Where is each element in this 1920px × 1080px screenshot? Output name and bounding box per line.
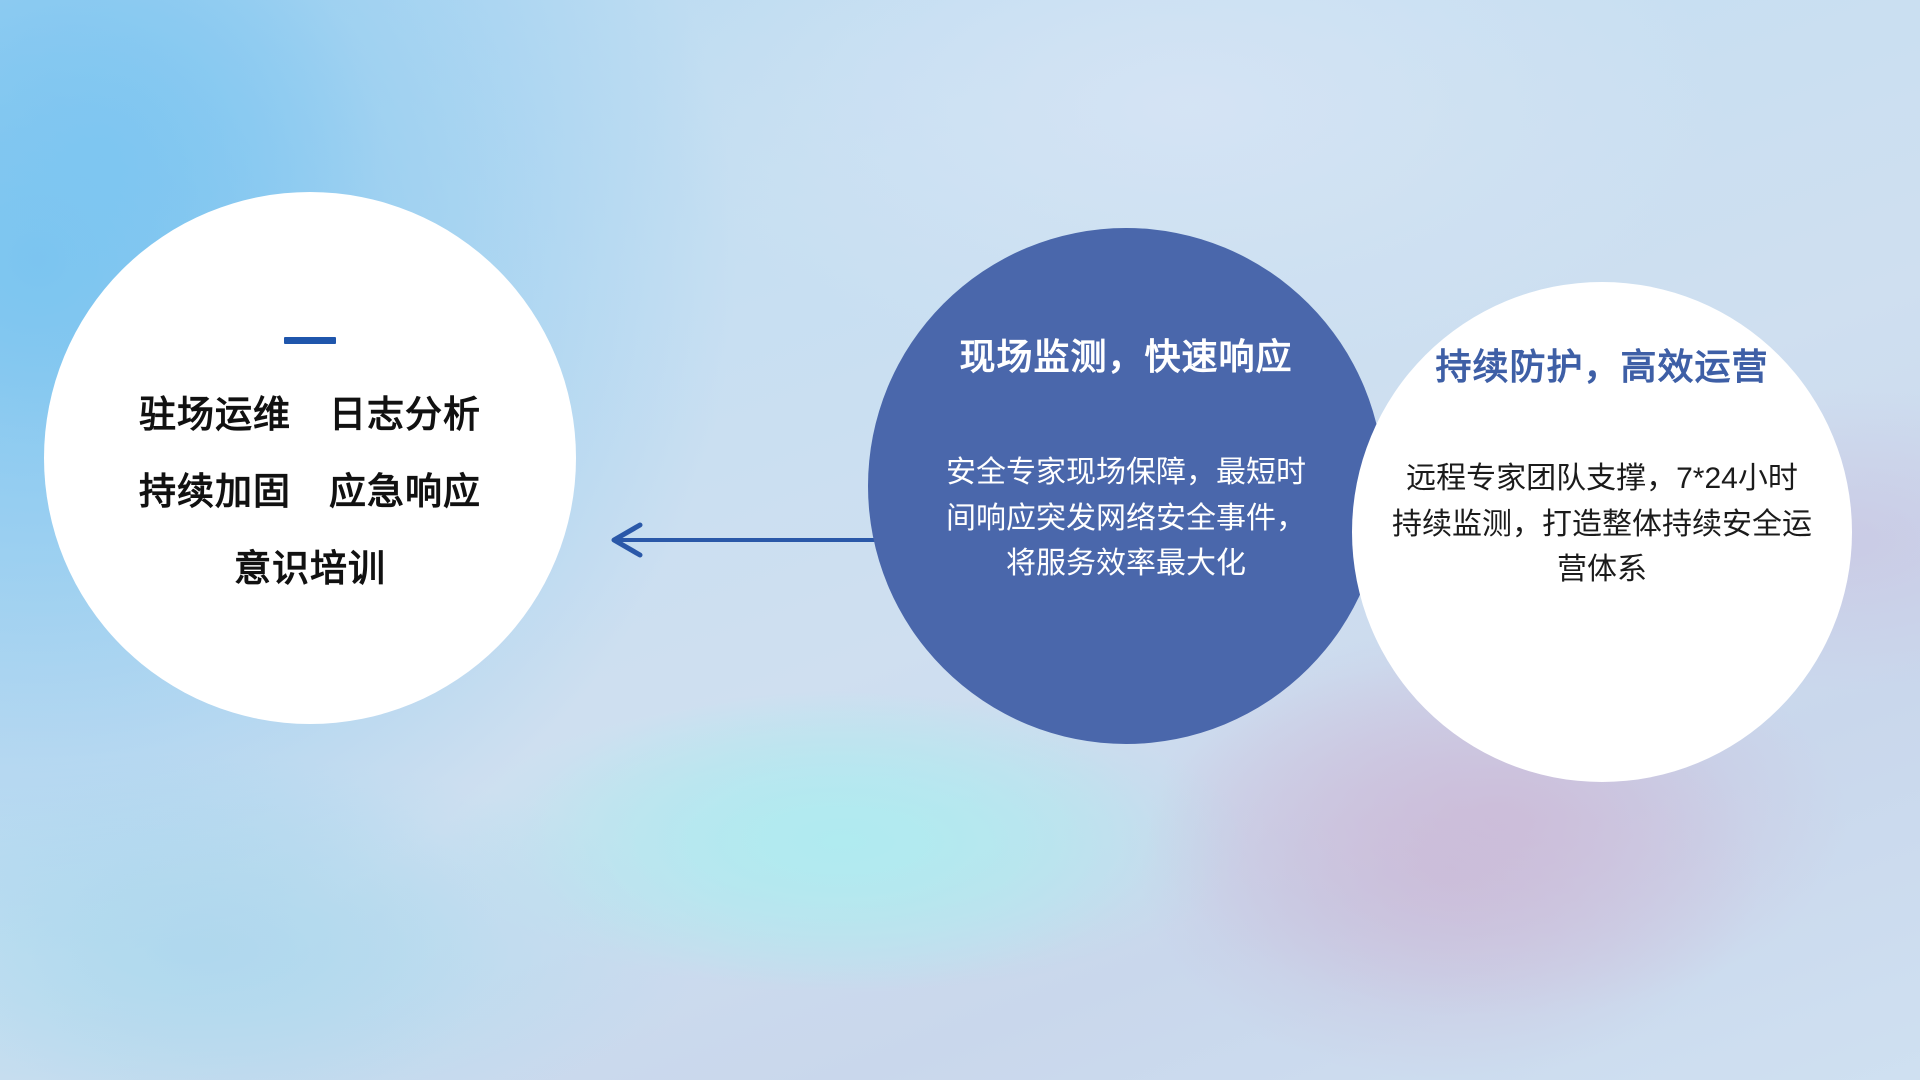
slide-canvas: 驻场运维 日志分析 持续加固 应急响应 意识培训 现场监测，快速响应 安全专家现…: [0, 0, 1920, 1080]
right-circle-title: 持续防护，高效运营: [1435, 338, 1768, 390]
accent-divider: [284, 337, 336, 344]
right-operations-circle: 持续防护，高效运营 远程专家团队支撑，7*24小时持续监测，打造整体持续安全运营…: [1352, 282, 1852, 782]
left-circle-line-2: 持续加固 应急响应: [90, 473, 530, 510]
left-circle-line-1: 驻场运维 日志分析: [90, 396, 530, 433]
background-glow-bottom-left: [0, 760, 500, 1080]
connector-arrow-left: [600, 520, 900, 560]
right-circle-body: 远程专家团队支撑，7*24小时持续监测，打造整体持续安全运营体系: [1392, 456, 1812, 593]
middle-circle-title: 现场监测，快速响应: [959, 328, 1292, 380]
left-service-circle: 驻场运维 日志分析 持续加固 应急响应 意识培训: [44, 192, 576, 724]
left-circle-content: 驻场运维 日志分析 持续加固 应急响应 意识培训: [90, 337, 530, 587]
middle-circle-body: 安全专家现场保障，最短时间响应突发网络安全事件，将服务效率最大化: [946, 450, 1306, 587]
left-circle-line-3: 意识培训: [90, 550, 530, 587]
middle-onsite-circle: 现场监测，快速响应 安全专家现场保障，最短时间响应突发网络安全事件，将服务效率最…: [868, 228, 1384, 744]
